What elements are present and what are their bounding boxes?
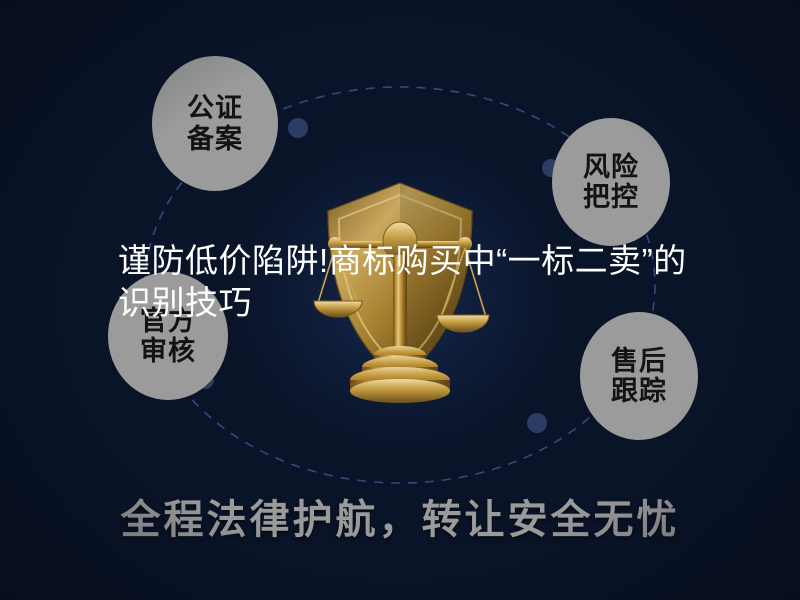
orbit-node-dot bbox=[288, 118, 308, 138]
feature-circle-label-line2: 审核 bbox=[140, 336, 196, 366]
bottom-tagline: 全程法律护航，转让安全无忧 bbox=[0, 487, 800, 545]
feature-circle-label-line2: 把控 bbox=[583, 182, 639, 212]
pedestal-base bbox=[350, 379, 450, 403]
overlay-title: 谨防低价陷阱!商标购买中“一标二卖”的识别技巧 bbox=[118, 240, 708, 324]
feature-circle-after-sales-tracking[interactable]: 售后 跟踪 bbox=[580, 312, 698, 440]
feature-circle-risk-control[interactable]: 风险 把控 bbox=[552, 118, 670, 246]
feature-circle-label-line1: 公证 bbox=[187, 93, 243, 123]
poster-canvas: 公证 备案 风险 把控 官方 审核 售后 跟踪 谨防低价陷阱!商标购买中“一标二… bbox=[0, 0, 800, 600]
feature-circle-label-line1: 风险 bbox=[583, 152, 639, 182]
feature-circle-notary-filing[interactable]: 公证 备案 bbox=[152, 56, 278, 191]
feature-circle-label-line1: 售后 bbox=[611, 346, 667, 376]
feature-circle-label-line2: 跟踪 bbox=[611, 376, 667, 406]
orbit-node-dot bbox=[527, 413, 547, 433]
feature-circle-label-line2: 备案 bbox=[187, 124, 243, 154]
